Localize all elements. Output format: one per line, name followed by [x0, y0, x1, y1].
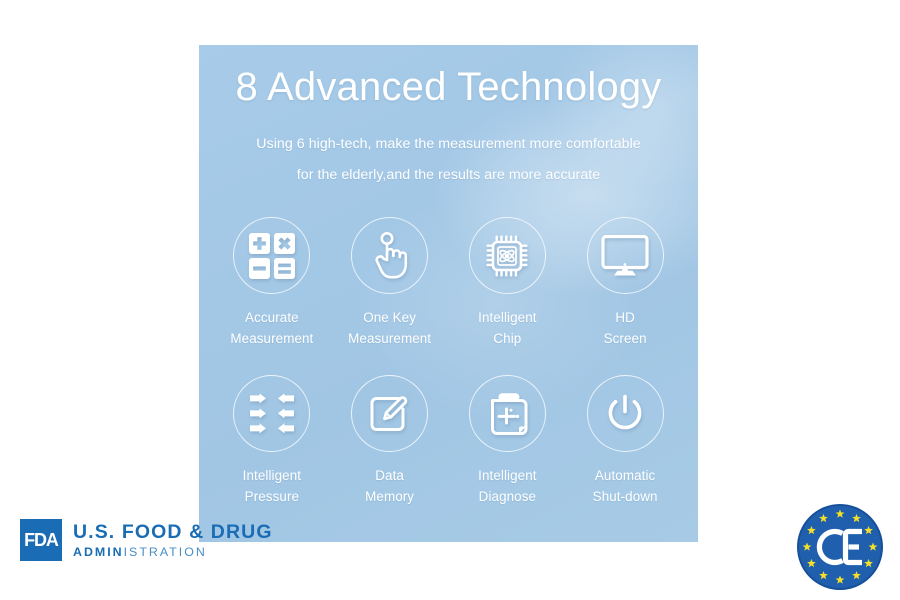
fda-line-1: U.S. FOOD & DRUG: [73, 521, 273, 543]
feature-icon-circle: [587, 375, 664, 452]
feature-item-data-memory[interactable]: Data Memory: [331, 375, 449, 533]
feature-label: Automatic Shut-down: [593, 465, 658, 507]
calculator-icon: [249, 233, 295, 279]
ce-mark-logo: [796, 503, 884, 591]
feature-item-hd-screen[interactable]: HD Screen: [566, 217, 684, 375]
feature-label: Accurate Measurement: [230, 307, 313, 349]
feature-icon-circle: [469, 217, 546, 294]
cpu-chip-atom-icon: [484, 233, 530, 279]
feature-label: Data Memory: [365, 465, 414, 507]
feature-item-accurate-measurement[interactable]: Accurate Measurement: [213, 217, 331, 375]
subtitle-line-2: for the elderly,and the results are more…: [199, 160, 698, 191]
feature-item-automatic-shutdown[interactable]: Automatic Shut-down: [566, 375, 684, 533]
touch-hand-icon: [368, 232, 412, 280]
ce-mark-icon: [796, 503, 884, 591]
feature-icon-circle: [587, 217, 664, 294]
page-title: 8 Advanced Technology: [199, 65, 698, 110]
feature-label: Intelligent Chip: [478, 307, 536, 349]
compression-arrows-icon: [248, 393, 296, 435]
feature-item-intelligent-diagnose[interactable]: Intelligent Diagnose: [449, 375, 567, 533]
page-subtitle: Using 6 high-tech, make the measurement …: [199, 129, 698, 191]
fda-line-2: ADMINISTRATION: [73, 543, 273, 561]
feature-label: Intelligent Diagnose: [478, 465, 536, 507]
medical-clipboard-icon: [485, 390, 529, 438]
feature-label: One Key Measurement: [348, 307, 431, 349]
fda-istration-light: ISTRATION: [124, 545, 207, 559]
monitor-screen-icon: [601, 235, 649, 277]
fda-logo: FDA U.S. FOOD & DRUG ADMINISTRATION: [20, 519, 273, 561]
fda-badge-icon: FDA: [20, 519, 62, 561]
feature-item-intelligent-pressure[interactable]: Intelligent Pressure: [213, 375, 331, 533]
power-button-icon: [603, 392, 647, 436]
subtitle-line-1: Using 6 high-tech, make the measurement …: [199, 129, 698, 160]
feature-item-intelligent-chip[interactable]: Intelligent Chip: [449, 217, 567, 375]
pencil-edit-square-icon: [368, 392, 412, 436]
feature-icon-circle: [233, 375, 310, 452]
feature-icon-circle: [233, 217, 310, 294]
feature-label: HD Screen: [604, 307, 647, 349]
poster-canvas: 8 Advanced Technology Using 6 high-tech,…: [0, 0, 900, 600]
feature-item-one-key-measurement[interactable]: One Key Measurement: [331, 217, 449, 375]
feature-panel: 8 Advanced Technology Using 6 high-tech,…: [199, 45, 698, 542]
fda-admin-bold: ADMIN: [73, 545, 124, 559]
feature-grid: Accurate Measurement: [213, 217, 684, 533]
fda-badge-text: FDA: [24, 530, 58, 551]
fda-wordmark: U.S. FOOD & DRUG ADMINISTRATION: [73, 519, 273, 561]
feature-icon-circle: [469, 375, 546, 452]
feature-icon-circle: [351, 375, 428, 452]
feature-label: Intelligent Pressure: [243, 465, 301, 507]
feature-icon-circle: [351, 217, 428, 294]
